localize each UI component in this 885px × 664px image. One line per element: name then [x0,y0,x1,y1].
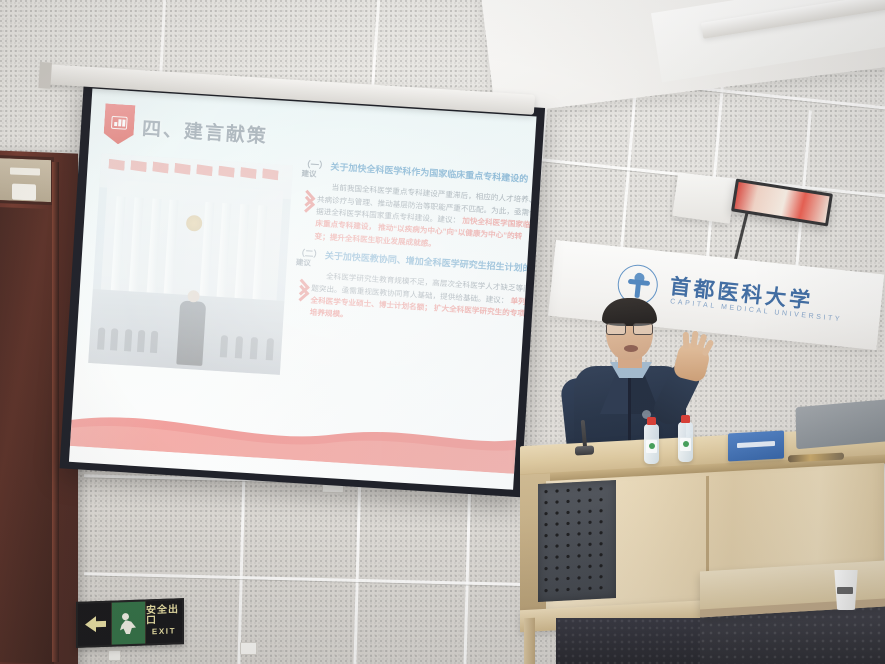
bar-chart-icon [111,116,128,130]
paper-cup[interactable] [833,570,859,610]
podium-metal-grille [538,480,616,602]
slide-title: 四、建言献策 [141,114,268,149]
exit-sign-text: 安全出口 EXIT [146,600,182,643]
microphone-base [575,446,594,456]
arrow-left-icon [78,603,112,646]
left-entrance-door[interactable] [0,207,54,664]
wall-power-outlet[interactable] [240,642,257,655]
slide-section: （一） 建议 关于加快全科医学科作为国家临床重点专科建设的 当前我国全科医学重点… [297,160,536,257]
foreground-person [177,301,207,367]
slide-badge-pennant [103,103,135,145]
red-ribbon-decoration [70,400,517,474]
transom-strip [10,167,40,175]
double-chevron-right-icon [294,278,308,301]
section-number: （二） 建议 [296,249,323,269]
grille-perforations [544,486,610,595]
exit-label-cn: 安全出口 [146,606,182,627]
presenter-right-hand [672,341,712,384]
slide-text-column: （一） 建议 关于加快全科医学科作为国家临床重点专科建设的 当前我国全科医学重点… [292,160,537,340]
screen-roller-cap [38,62,52,89]
projection-screen: 四、建言献策 [60,79,546,497]
lecture-hall-photo: 四、建言献策 [0,0,885,664]
presenter-mouth [624,345,638,352]
slide-photo-great-hall [88,153,293,375]
exit-sign: 安全出口 EXIT [76,598,184,648]
slide-section: （二） 建议 关于加快医教协同、增加全科医学研究生招生计划的 全科医学研究生教育… [292,249,534,333]
running-person-icon [112,601,146,644]
transom-box [12,184,36,201]
eyeglasses-icon [606,323,653,333]
section-body: 当前我国全科医学重点专科建设严重滞后，相应的人才培养、共病诊疗与管理、推动基层防… [314,181,536,256]
door-edge [52,162,59,662]
exit-label-en: EXIT [152,626,176,638]
national-emblem-icon [186,215,203,232]
water-bottle[interactable] [678,422,693,462]
wall-power-outlet[interactable] [108,650,121,661]
water-bottle[interactable] [644,424,659,464]
presenter-hair [602,298,657,326]
presentation-slide: 四、建言献策 [69,89,537,490]
section-number: （一） 建议 [301,160,328,180]
double-chevron-right-icon [299,189,313,212]
podium-leg [524,618,535,664]
blue-box[interactable] [728,431,784,462]
screen-border: 四、建言献策 [60,79,546,497]
great-hall-building [100,180,283,303]
section-title: 关于加快全科医学科作为国家临床重点专科建设的 [330,162,528,186]
plaza-crowd [88,289,284,375]
wall-speaker-box [672,172,736,224]
